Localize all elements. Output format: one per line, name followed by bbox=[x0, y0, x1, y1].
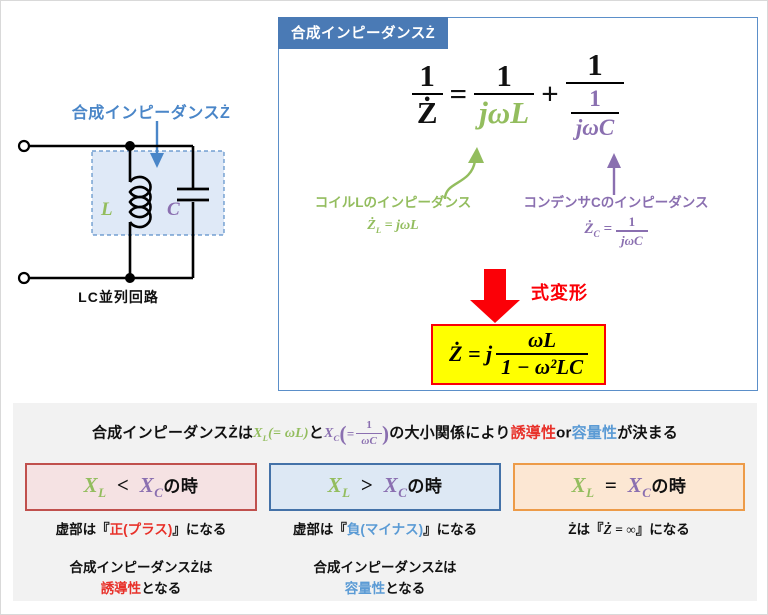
case-2-suffix: の時 bbox=[407, 477, 442, 496]
equals-sign: = bbox=[450, 76, 468, 112]
circuit-diagram: 合成インピーダンスŻ L C LC並列回路 bbox=[1, 89, 278, 319]
case-3-header: XL = XCの時 bbox=[513, 463, 745, 511]
result-lhs: Ż = j bbox=[449, 341, 492, 367]
term2-inner-denominator: jωC bbox=[571, 112, 619, 139]
circuit-caption: LC並列回路 bbox=[1, 287, 236, 307]
xc-denominator: ωC bbox=[356, 433, 382, 447]
cap-formula-numerator: 1 bbox=[624, 215, 641, 230]
coil-impedance-annotation: コイルLのインピーダンス ŻL = jωL bbox=[293, 193, 493, 236]
summary-inductive: 誘導性 bbox=[511, 424, 557, 441]
case-1-line1-highlight: 正(プラス) bbox=[110, 522, 173, 537]
case-2-line1-highlight: 負(マイナス) bbox=[347, 522, 423, 537]
lhs-denominator: Ż bbox=[412, 93, 443, 128]
cap-annotation-arrow bbox=[601, 149, 627, 197]
cap-annotation-formula: ŻC = 1 jωC bbox=[501, 215, 731, 247]
cap-formula-denominator: jωC bbox=[616, 230, 648, 247]
formula-panel-tab: 合成インピーダンスŻ bbox=[278, 17, 448, 49]
lhs-fraction: 1 Ż bbox=[412, 60, 443, 128]
case-1-line1-post: 』になる bbox=[172, 522, 226, 537]
transform-label: 式変形 bbox=[531, 279, 588, 305]
case-3-line1-highlight: Ż = ∞ bbox=[603, 522, 635, 537]
term2-inner-fraction: 1 jωC bbox=[571, 87, 619, 139]
summary-or: or bbox=[556, 424, 571, 441]
case-3-line1-pre: Żは『 bbox=[568, 522, 603, 537]
summary-part2: の大小関係により bbox=[389, 424, 510, 441]
term2-denominator: 1 jωC bbox=[566, 82, 624, 139]
case-1-line2-highlight: 誘導性 bbox=[101, 581, 142, 596]
case-2-line2-post: となる bbox=[385, 581, 425, 596]
capacitor-label: C bbox=[167, 199, 180, 221]
case-2-header: XL > XCの時 bbox=[269, 463, 501, 511]
case-card-greater-than: XL > XCの時 虚部は『負(マイナス)』になる 合成インピーダンスŻは 容量… bbox=[269, 463, 501, 600]
case-2-line1-pre: 虚部は『 bbox=[293, 522, 347, 537]
case-1-line2-post: となる bbox=[141, 581, 181, 596]
transform-arrow-icon bbox=[467, 269, 523, 324]
circuit-svg bbox=[1, 89, 278, 319]
term2-numerator: 1 bbox=[582, 49, 608, 82]
term1-numerator: 1 bbox=[491, 60, 517, 93]
case-1-operator: < bbox=[117, 473, 129, 497]
plus-sign: + bbox=[541, 76, 559, 112]
result-fraction: ωL 1 − ω²LC bbox=[496, 330, 588, 378]
case-3-line1: Żは『Ż = ∞』になる bbox=[513, 520, 745, 540]
case-card-less-than: XL < XCの時 虚部は『正(プラス)』になる 合成インピーダンスŻは 誘導性… bbox=[25, 463, 257, 600]
inductor-label: L bbox=[101, 199, 113, 221]
case-2-line2-a: 合成インピーダンスŻは bbox=[269, 558, 501, 579]
main-equation: 1 Ż = 1 jωL + 1 1 jωC bbox=[278, 49, 758, 139]
case-2-line2: 合成インピーダンスŻは 容量性となる bbox=[269, 558, 501, 600]
term1-denominator: jωL bbox=[474, 93, 534, 128]
case-3-line1-post: 』になる bbox=[636, 522, 690, 537]
result-numerator: ωL bbox=[523, 330, 561, 353]
summary-and: と bbox=[309, 424, 324, 441]
coil-annotation-title: コイルLのインピーダンス bbox=[293, 193, 493, 213]
result-equation-box: Ż = j ωL 1 − ω²LC bbox=[431, 324, 606, 385]
xc-numerator: 1 bbox=[361, 420, 377, 433]
summary-panel: 合成インピーダンスŻはXL(= ωL)とXC( = 1 ωC )の大小関係により… bbox=[13, 403, 757, 601]
case-1-line2-a: 合成インピーダンスŻは bbox=[25, 558, 257, 579]
case-1-line1-pre: 虚部は『 bbox=[56, 522, 110, 537]
case-3-suffix: の時 bbox=[651, 477, 686, 496]
case-card-equal: XL = XCの時 Żは『Ż = ∞』になる bbox=[513, 463, 745, 600]
case-3-operator: = bbox=[605, 473, 617, 497]
case-1-line2: 合成インピーダンスŻは 誘導性となる bbox=[25, 558, 257, 600]
term1-fraction: 1 jωL bbox=[474, 60, 534, 128]
case-row: XL < XCの時 虚部は『正(プラス)』になる 合成インピーダンスŻは 誘導性… bbox=[13, 463, 757, 600]
case-1-suffix: の時 bbox=[163, 477, 198, 496]
lhs-numerator: 1 bbox=[414, 60, 440, 93]
cap-impedance-annotation: コンデンサCのインピーダンス ŻC = 1 jωC bbox=[501, 193, 731, 247]
term2-fraction: 1 1 jωC bbox=[566, 49, 624, 139]
coil-annotation-formula: ŻL = jωL bbox=[293, 216, 493, 236]
case-2-line1: 虚部は『負(マイナス)』になる bbox=[269, 520, 501, 540]
summary-part1: 合成インピーダンスŻは bbox=[92, 424, 253, 441]
summary-part3: が決まる bbox=[617, 424, 678, 441]
cap-annotation-title: コンデンサCのインピーダンス bbox=[501, 193, 731, 213]
case-2-line2-highlight: 容量性 bbox=[345, 581, 386, 596]
summary-sentence: 合成インピーダンスŻはXL(= ωL)とXC( = 1 ωC )の大小関係により… bbox=[13, 403, 757, 447]
result-denominator: 1 − ω²LC bbox=[496, 353, 588, 378]
term2-inner-numerator: 1 bbox=[584, 87, 606, 112]
case-1-header: XL < XCの時 bbox=[25, 463, 257, 511]
case-1-line1: 虚部は『正(プラス)』になる bbox=[25, 520, 257, 540]
summary-capacitive: 容量性 bbox=[572, 424, 618, 441]
case-2-line1-post: 』になる bbox=[423, 522, 477, 537]
case-2-operator: > bbox=[361, 473, 373, 497]
